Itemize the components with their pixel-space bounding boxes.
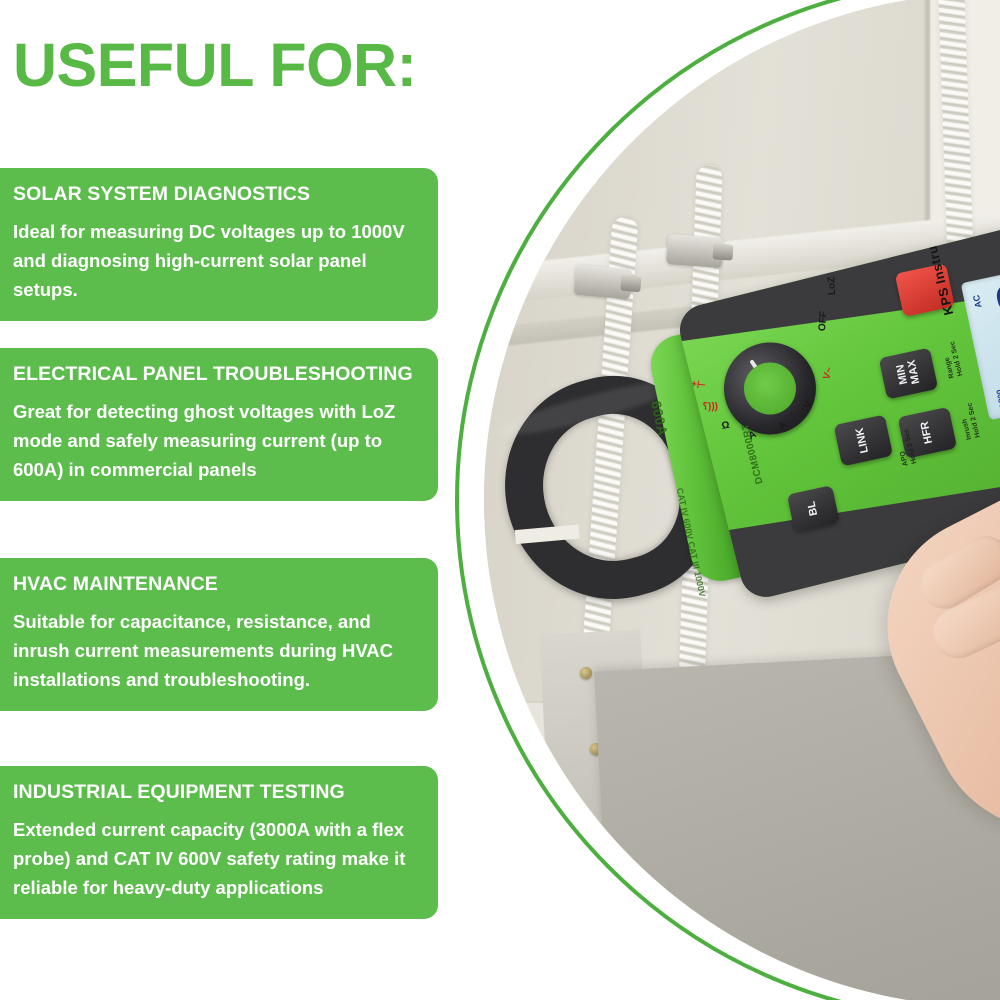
panel-screw-2 bbox=[590, 743, 602, 755]
safety-rating-label: CAT IV 600V CAT III 1000V bbox=[673, 487, 715, 636]
backlight-button[interactable] bbox=[895, 263, 955, 317]
lcd-ac-indicator: AC bbox=[971, 294, 983, 309]
min-max-button[interactable]: MIN MAX bbox=[879, 348, 939, 400]
feature-card-hvac: HVAC MAINTENANCE Suitable for capacitanc… bbox=[0, 558, 438, 711]
dial-center-hole bbox=[738, 357, 801, 420]
lcd-display: AC A 1.72 A800 bbox=[961, 261, 1000, 420]
clamp-jaw bbox=[484, 354, 741, 623]
min-max-button-note: Range Hold 2 Sec bbox=[940, 340, 966, 379]
dial-label-off: OFF bbox=[817, 311, 829, 332]
clamp-meter: 600A CAT IV 600V CAT III 1000V OFF LoZ V… bbox=[484, 205, 1000, 689]
hfr-button[interactable]: HFR bbox=[898, 407, 958, 459]
backlight-toggle-button[interactable]: BL bbox=[787, 485, 840, 532]
conduit-clamp-3 bbox=[940, 287, 997, 318]
lcd-reading-value: 1.72 bbox=[985, 271, 1000, 410]
feature-card-body: Great for detecting ghost voltages with … bbox=[13, 398, 418, 485]
hfr-button-label: HFR bbox=[919, 420, 935, 445]
backlight-toggle-label: BL bbox=[806, 500, 820, 517]
dial-label-ohm: Ω bbox=[721, 420, 731, 432]
min-max-button-label: MIN MAX bbox=[895, 359, 923, 388]
feature-card-title: INDUSTRIAL EQUIPMENT TESTING bbox=[13, 781, 418, 803]
feature-card-solar: SOLAR SYSTEM DIAGNOSTICS Ideal for measu… bbox=[0, 168, 438, 321]
panel-ledge bbox=[484, 201, 1000, 305]
meter-body-top-trim bbox=[674, 215, 1000, 343]
hand bbox=[850, 441, 1000, 871]
clamp-jaw-gap bbox=[515, 525, 580, 545]
clamp-jaw-highlight bbox=[496, 373, 682, 444]
feature-card-body: Suitable for capacitance, resistance, an… bbox=[13, 608, 418, 695]
conduit-clamp-1 bbox=[574, 264, 632, 299]
panel-cover bbox=[594, 613, 1000, 1000]
finger-2 bbox=[925, 571, 1000, 666]
photo-circle-clip: 600A CAT IV 600V CAT III 1000V OFF LoZ V… bbox=[484, 0, 1000, 1000]
dial-label-vac: V~ bbox=[821, 366, 835, 381]
link-button-note: APO Hold 2 Sec bbox=[894, 428, 920, 467]
feature-card-industrial: INDUSTRIAL EQUIPMENT TESTING Extended cu… bbox=[0, 766, 438, 919]
dial-label-aac: A bbox=[777, 419, 790, 432]
model-number-label: DCM8000RT bbox=[740, 422, 766, 485]
photo-ring-accent bbox=[455, 0, 1000, 1000]
dial-label-diode: +⊢ bbox=[690, 379, 706, 392]
feature-card-electrical-panel: ELECTRICAL PANEL TROUBLESHOOTING Great f… bbox=[0, 348, 438, 501]
lcd-range-label: A800 bbox=[995, 389, 1000, 410]
dial-label-loz: LoZ bbox=[826, 277, 838, 296]
link-button[interactable]: LINK bbox=[834, 415, 894, 467]
link-button-label: LINK bbox=[855, 427, 872, 455]
wall-panel-left bbox=[484, 0, 950, 703]
panel-ledge-shadow bbox=[484, 264, 1000, 347]
conduit-1 bbox=[558, 216, 639, 1000]
feature-card-title: ELECTRICAL PANEL TROUBLESHOOTING bbox=[13, 363, 418, 385]
photo-scene: 600A CAT IV 600V CAT III 1000V OFF LoZ V… bbox=[484, 0, 1000, 1000]
brand-label: KPS Instruments bbox=[915, 215, 957, 317]
feature-card-title: HVAC MAINTENANCE bbox=[13, 573, 418, 595]
meter-body-bottom-trim bbox=[715, 460, 1000, 602]
panel-screw-1 bbox=[580, 667, 592, 679]
meter-body: OFF LoZ V~ V A A Ω ⸮))) +⊢ MIN MAX bbox=[674, 215, 1000, 603]
clamp-trigger[interactable]: 600A CAT IV 600V CAT III 1000V bbox=[645, 329, 758, 586]
page-title: USEFUL FOR: bbox=[13, 33, 416, 97]
poster-root: 600A CAT IV 600V CAT III 1000V OFF LoZ V… bbox=[0, 0, 1000, 1000]
hfr-button-note: Inrush Hold 2 Sec bbox=[958, 402, 984, 441]
jaw-rating-label: 600A bbox=[648, 399, 689, 520]
dial-label-vdc: V bbox=[802, 400, 815, 411]
conduit-2 bbox=[667, 165, 722, 1000]
feature-card-body: Extended current capacity (3000A with a … bbox=[13, 816, 418, 903]
panel-cover-lip bbox=[539, 629, 652, 857]
wall-panel-right bbox=[930, 0, 1000, 622]
dial-label-adc: A bbox=[747, 429, 759, 442]
conduit-3 bbox=[938, 0, 989, 693]
conduit-clamp-2 bbox=[666, 234, 724, 268]
wall-edge bbox=[925, 0, 930, 622]
rotary-dial[interactable] bbox=[714, 333, 826, 445]
dial-label-continuity: ⸮))) bbox=[703, 401, 718, 412]
feature-card-title: SOLAR SYSTEM DIAGNOSTICS bbox=[13, 183, 418, 205]
feature-card-body: Ideal for measuring DC voltages up to 10… bbox=[13, 218, 418, 305]
finger-1 bbox=[912, 527, 1000, 618]
